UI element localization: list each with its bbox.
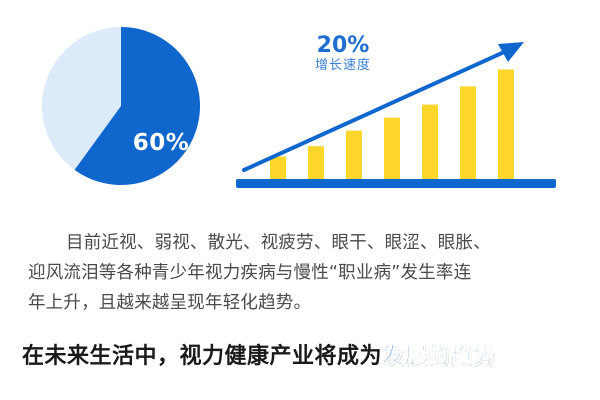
bar-item [460,86,476,180]
charts-band: 60% 20% 增长速度 [0,0,600,212]
bar-item [346,131,362,180]
growth-caption: 增长速度 [283,59,403,73]
headline-black-text: 在未来生活中，视力健康产业将成为 [22,344,382,369]
paragraph-line-2: 迎风流泪等各种青少年视力疾病与慢性“职业病”发生率连 [28,258,576,288]
bar-item [384,118,400,180]
headline-highlight-text: 发展的趋势 [382,344,495,369]
bar-item [422,105,438,180]
bar-item [308,146,324,180]
growth-percent: 20% [283,34,403,57]
paragraph-line-3: 年上升，且越来越呈现年轻化趋势。 [28,288,576,318]
pie-chart-svg [42,27,200,185]
paragraph-line-1: 目前近视、弱视、散光、视疲劳、眼干、眼涩、眼胀、 [28,228,576,258]
infographic-canvas: 60% 20% 增长速度 目前近视、弱视、散光、视疲劳、眼干、眼涩、眼胀、 迎风… [0,0,600,400]
bar-item [270,157,286,180]
chart-baseline [236,179,556,188]
body-paragraph: 目前近视、弱视、散光、视疲劳、眼干、眼涩、眼胀、 迎风流泪等各种青少年视力疾病与… [28,228,576,318]
headline: 在未来生活中，视力健康产业将成为发展的趋势 [22,340,582,374]
growth-rate-label: 20% 增长速度 [283,34,403,73]
bar-series [270,70,514,181]
pie-percentage-label: 60% [128,132,194,155]
bar-item [498,70,514,181]
pie-chart: 60% [42,27,200,185]
